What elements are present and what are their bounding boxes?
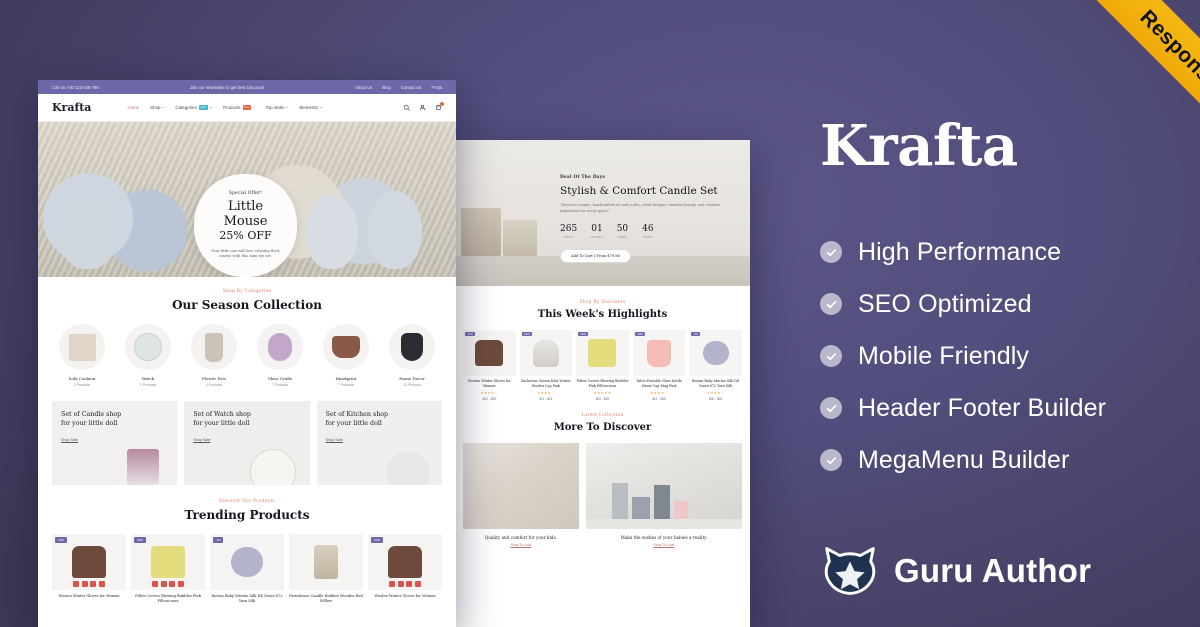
category-name: Flower Pots (184, 376, 244, 381)
countdown-value: 265 (560, 224, 577, 234)
discount-badge: -35% (578, 332, 588, 336)
feature-label: SEO Optimized (858, 290, 1032, 319)
nav-item-top-deals[interactable]: Top deals (266, 105, 289, 110)
category-item-sofa-cushion[interactable]: Sofa Cushion 2 Products (52, 324, 112, 387)
category-icon (125, 324, 171, 370)
promo-link[interactable]: Shop Sale (193, 438, 210, 442)
feature-item-high-performance: High Performance (820, 226, 1190, 278)
countdown-separator: . (634, 224, 636, 236)
product-card[interactable]: Farmhouse Candle Holders Wooden Red Will… (289, 534, 363, 604)
category-item-glass-crafts[interactable]: Glass Crafts 7 Products (250, 324, 310, 387)
deal-title: Stylish & Comfort Candle Set (560, 185, 735, 197)
category-name: Sofa Cushion (52, 376, 112, 381)
offer-description: Your little one will love creating their… (205, 249, 286, 260)
trending-title: Trending Products (52, 508, 442, 522)
discount-badge: -46% (635, 332, 645, 336)
yarn-image (231, 547, 263, 577)
site-logo[interactable]: Krafta (52, 101, 91, 114)
search-icon[interactable] (403, 104, 410, 111)
nav-label: Home (127, 105, 139, 110)
account-icon[interactable] (419, 104, 426, 111)
chevron-down-icon (210, 107, 212, 108)
category-icon (257, 324, 303, 370)
product-card[interactable]: -7% Rowan Baby Merino Silk DK Dawn 672 Y… (210, 534, 284, 604)
countdown-label: SECS (642, 235, 653, 239)
category-count: 4 Products (184, 383, 244, 387)
season-eyebrow: Shop By Categories (52, 289, 442, 294)
new-tag: new (199, 105, 209, 110)
trending-section: Discover Our Products Trending Products … (38, 485, 456, 604)
trending-eyebrow: Discover Our Products (52, 499, 442, 504)
countdown-unit: 50 MINS (617, 224, 628, 239)
rating-stars: ★★★★☆ (689, 391, 742, 395)
product-name: Rowan Baby Merino Silk DK Dawn 672 Yarn … (689, 379, 742, 389)
nav-label: Elements (299, 105, 317, 110)
product-name: Rowan Baby Merino Silk DK Dawn 672 Yarn … (210, 594, 284, 604)
trending-product-row: -20% Woolen Winter Gloves for Women -35% (52, 534, 442, 604)
mouse-toy-image (60, 199, 116, 269)
mouse-toy-image (368, 191, 422, 269)
offer-subtitle: 25% OFF (219, 230, 271, 243)
highlights-section: Shop By Discounts This Week's Highlights (455, 286, 750, 320)
planters-image (586, 443, 742, 529)
category-name: Glass Crafts (250, 376, 310, 381)
discover-eyebrow: Latest Collection (469, 413, 736, 418)
phone-text: Call Us +00 123-456-789 (52, 85, 99, 90)
mug-image (647, 340, 671, 367)
product-name: Zacharias Unisex Kids Winter Woolen Cap … (520, 379, 573, 389)
offer-title: Little Mouse (205, 200, 286, 230)
product-image: -20% (463, 330, 516, 376)
promo-card-watch[interactable]: Set of Watch shop for your little doll S… (184, 401, 309, 485)
nav-label: Top deals (266, 105, 285, 110)
discount-badge: -20% (371, 537, 383, 543)
category-count: 7 Products (250, 383, 310, 387)
mouse-toy-image (306, 195, 358, 269)
product-name: Farmhouse Candle Holders Wooden Red Will… (289, 594, 363, 604)
product-name: Woolen Winter Gloves for Women (368, 594, 442, 599)
category-count: 7 Products (316, 383, 376, 387)
nav-item-products[interactable]: Products hot (223, 105, 255, 110)
knitting-image (463, 443, 579, 529)
product-image: -35% (576, 330, 629, 376)
responsive-ribbon: Responsive (1022, 0, 1200, 178)
discount-badge: -7% (691, 332, 700, 336)
countdown-value: 01 (591, 224, 603, 234)
product-card[interactable]: -20% Woolen Winter Gloves for Women (368, 534, 442, 604)
highlights-title: This Week's Highlights (469, 309, 736, 320)
yarn-image (703, 341, 729, 365)
pillow-image (588, 339, 616, 367)
gloves-image (475, 340, 503, 366)
category-icon (191, 324, 237, 370)
chevron-down-icon (286, 107, 288, 108)
highlights-eyebrow: Shop By Discounts (469, 300, 736, 305)
category-icon (389, 324, 435, 370)
feature-item-mobile-friendly: Mobile Friendly (820, 330, 1190, 382)
category-item-handprint[interactable]: Handprint 7 Products (316, 324, 376, 387)
color-swatches[interactable] (368, 581, 442, 587)
category-name: Home Decor (382, 376, 442, 381)
nav-label: Products (223, 105, 240, 110)
check-circle-icon (820, 397, 842, 419)
category-name: Watch (118, 376, 178, 381)
check-circle-icon (820, 345, 842, 367)
cart-wrap[interactable] (435, 104, 442, 111)
feature-label: MegaMenu Builder (858, 446, 1069, 475)
category-icon (323, 324, 369, 370)
countdown-label: HOURS (591, 235, 603, 239)
discover-title: More To Discover (469, 422, 736, 433)
shop-to-look-link[interactable]: Shop To Look (586, 543, 742, 547)
promo-row: Set of Candle shop for your little doll … (52, 401, 442, 485)
category-item-flower-pots[interactable]: Flower Pots 4 Products (184, 324, 244, 387)
product-card[interactable]: -35% Pillow Covers Blowing Bubbles Pink … (131, 534, 205, 604)
main-nav: Home Shop Categories new Products hot (127, 105, 321, 110)
nav-item-home[interactable]: Home (127, 105, 139, 110)
color-swatches[interactable] (131, 581, 205, 587)
cat-star-badge-icon (822, 546, 878, 596)
product-image: -7% (689, 330, 742, 376)
category-item-watch[interactable]: Watch 2 Products (118, 324, 178, 387)
product-price: $19 - $25 (576, 397, 629, 401)
watch-image (250, 449, 296, 485)
discount-badge: -20% (55, 537, 67, 543)
product-image: -46% (633, 330, 686, 376)
product-image: -35% (131, 534, 205, 590)
nav-item-elements[interactable]: Elements (299, 105, 321, 110)
feature-item-seo-optimized: SEO Optimized (820, 278, 1190, 330)
candle-image (503, 220, 537, 256)
feature-item-header-footer-builder: Header Footer Builder (820, 382, 1190, 434)
rating-stars: ★★★★☆ (633, 391, 686, 395)
product-price: $12 - $25 (463, 397, 516, 401)
deal-eyebrow: Deal Of The Days (560, 174, 735, 179)
category-count: 2 Products (118, 383, 178, 387)
promo-title: Set of Watch shop for your little doll (193, 410, 300, 428)
season-title: Our Season Collection (52, 298, 442, 312)
discover-caption: Make the wishes of your babies a reality… (586, 535, 742, 540)
feature-label: High Performance (858, 238, 1061, 267)
promo-title: Set of Candle shop for your little doll (61, 410, 168, 428)
website-mockup-secondary: Deal Of The Days Stylish & Comfort Candl… (455, 140, 750, 627)
rating-stars: ★★★★☆ (463, 391, 516, 395)
rating-stars: ★★★★☆ (520, 391, 573, 395)
product-image (289, 534, 363, 590)
product-card[interactable]: -7% Rowan Baby Merino Silk DK Dawn 672 Y… (689, 330, 742, 401)
feature-item-megamenu-builder: MegaMenu Builder (820, 434, 1190, 486)
rating-stars: ★★★★★ (576, 391, 629, 395)
gloves-image (388, 546, 422, 578)
gloves-image (72, 546, 106, 578)
website-mockup-primary: Call Us +00 123-456-789 Join our newslet… (38, 80, 456, 627)
hot-tag: hot (243, 105, 251, 110)
nav-item-shop[interactable]: Shop (150, 105, 164, 110)
countdown-label: DAYS (560, 235, 577, 239)
header-icons (403, 104, 442, 111)
candle-image (461, 208, 501, 256)
deal-of-the-day-section: Deal Of The Days Stylish & Comfort Candl… (455, 140, 750, 286)
countdown-value: 50 (617, 224, 628, 234)
newsletter-text: Join our newsletter to get best Discount… (99, 85, 355, 90)
feature-label: Header Footer Builder (858, 394, 1106, 423)
topbar-link-blog[interactable]: Blog (382, 85, 390, 90)
category-count: 2 Products (52, 383, 112, 387)
check-circle-icon (820, 241, 842, 263)
add-to-cart-button[interactable]: Add To Cart | From $79.86 (560, 249, 631, 263)
feature-label: Mobile Friendly (858, 342, 1029, 371)
promo-card-candle[interactable]: Set of Candle shop for your little doll … (52, 401, 177, 485)
author-name: Guru Author (894, 552, 1091, 590)
product-card[interactable]: -46% Yalcis Portable Glass Kettle Straw … (633, 330, 686, 401)
chevron-down-icon (320, 107, 322, 108)
product-image: -20% (520, 330, 573, 376)
category-row: Sofa Cushion 2 Products Watch 2 Products… (52, 324, 442, 387)
ribbon-label: Responsive (1135, 6, 1200, 108)
discover-card[interactable]: Make the wishes of your babies a reality… (586, 443, 742, 547)
promo-card-kitchen[interactable]: Set of Kitchen shop for your little doll… (317, 401, 442, 485)
pillow-image (151, 546, 185, 578)
cart-count-badge (440, 102, 444, 106)
product-price: $50 - $54 (689, 397, 742, 401)
category-name: Handprint (316, 376, 376, 381)
countdown-unit: 265 DAYS (560, 224, 577, 239)
highlights-product-row: -20% Woolen Winter Gloves for Women ★★★★… (455, 330, 750, 401)
nav-label: Shop (150, 105, 160, 110)
category-icon (59, 324, 105, 370)
product-name: Pillow Covers Blowing Bubbles Pink Pillo… (131, 594, 205, 604)
countdown-unit: 46 SECS (642, 224, 653, 239)
hero-banner: Special Offer! Little Mouse 25% OFF Your… (38, 122, 456, 277)
product-image: -20% (52, 534, 126, 590)
season-collection-section: Shop By Categories Our Season Collection… (38, 277, 456, 485)
discover-caption: Quality and comfort for your kids. (463, 535, 579, 540)
topbar-link-contact[interactable]: Contact Us (401, 85, 422, 90)
product-card[interactable]: -35% Pillow Covers Blowing Bubbles Pink … (576, 330, 629, 401)
promo-title: Set of Kitchen shop for your little doll (326, 410, 433, 428)
color-swatches[interactable] (52, 581, 126, 587)
chevron-down-icon (253, 107, 255, 108)
discover-section: Latest Collection More To Discover (455, 401, 750, 433)
countdown-unit: 01 HOURS (591, 224, 603, 239)
promo-link[interactable]: Shop Sale (61, 438, 78, 442)
product-price: $11 - $21 (520, 397, 573, 401)
discover-card-row: Quality and comfort for your kids. Shop … (455, 443, 750, 547)
countdown-value: 46 (642, 224, 653, 234)
nav-label: Categories (175, 105, 196, 110)
topbar-link-faqs[interactable]: FAQs (432, 85, 442, 90)
offer-eyebrow: Special Offer! (229, 191, 262, 196)
countdown-label: MINS (617, 235, 628, 239)
cap-image (533, 339, 559, 367)
product-name: Pillow Covers Blowing Bubbles Pink Pillo… (576, 379, 629, 389)
topbar-links: About Us Blog Contact Us FAQs (355, 85, 442, 90)
countdown-separator: . (583, 224, 585, 236)
promo-link[interactable]: Shop Sale (326, 438, 343, 442)
kitchenware-image (386, 451, 430, 485)
check-circle-icon (820, 449, 842, 471)
author-badge: Guru Author (822, 546, 1091, 596)
product-card[interactable]: -20% Woolen Winter Gloves for Women (52, 534, 126, 604)
site-header: Krafta Home Shop Categories new Products… (38, 94, 456, 122)
product-card[interactable]: -20% Zacharias Unisex Kids Winter Woolen… (520, 330, 573, 401)
deal-description: "Discover unique, handcrafted art and cr… (560, 203, 735, 214)
product-price: $21 - $35 (633, 397, 686, 401)
promo-banner-stage: Deal Of The Days Stylish & Comfort Candl… (0, 0, 1200, 627)
discount-badge: -20% (465, 332, 475, 336)
ribbon-band: Responsive (1078, 0, 1200, 165)
feature-list: High Performance SEO Optimized Mobile Fr… (820, 226, 1190, 486)
check-circle-icon (820, 293, 842, 315)
deal-countdown: 265 DAYS . 01 HOURS . 50 MINS . (560, 224, 735, 239)
product-card[interactable]: -20% Woolen Winter Gloves for Women ★★★★… (463, 330, 516, 401)
product-image: -20% (368, 534, 442, 590)
countdown-separator: . (609, 224, 611, 236)
topbar-link-about[interactable]: About Us (355, 85, 372, 90)
product-name: Yalcis Portable Glass Kettle Straw Cup M… (633, 379, 686, 389)
discount-badge: -35% (134, 537, 146, 543)
product-image: -7% (210, 534, 284, 590)
nav-item-categories[interactable]: Categories new (175, 105, 212, 110)
candle-holder-image (314, 545, 338, 579)
discount-badge: -7% (213, 537, 223, 543)
candle-image (127, 449, 159, 485)
product-name: Woolen Winter Gloves for Women (52, 594, 126, 599)
discover-card[interactable]: Quality and comfort for your kids. Shop … (463, 443, 579, 547)
product-name: Woolen Winter Gloves for Women (463, 379, 516, 389)
shop-to-look-link[interactable]: Shop To Look (463, 543, 579, 547)
category-item-home-decor[interactable]: Home Decor 12 Products (382, 324, 442, 387)
hero-offer-badge[interactable]: Special Offer! Little Mouse 25% OFF Your… (194, 174, 297, 277)
category-count: 12 Products (382, 383, 442, 387)
discount-badge: -20% (522, 332, 532, 336)
chevron-down-icon (162, 107, 164, 108)
site-topbar: Call Us +00 123-456-789 Join our newslet… (38, 80, 456, 94)
